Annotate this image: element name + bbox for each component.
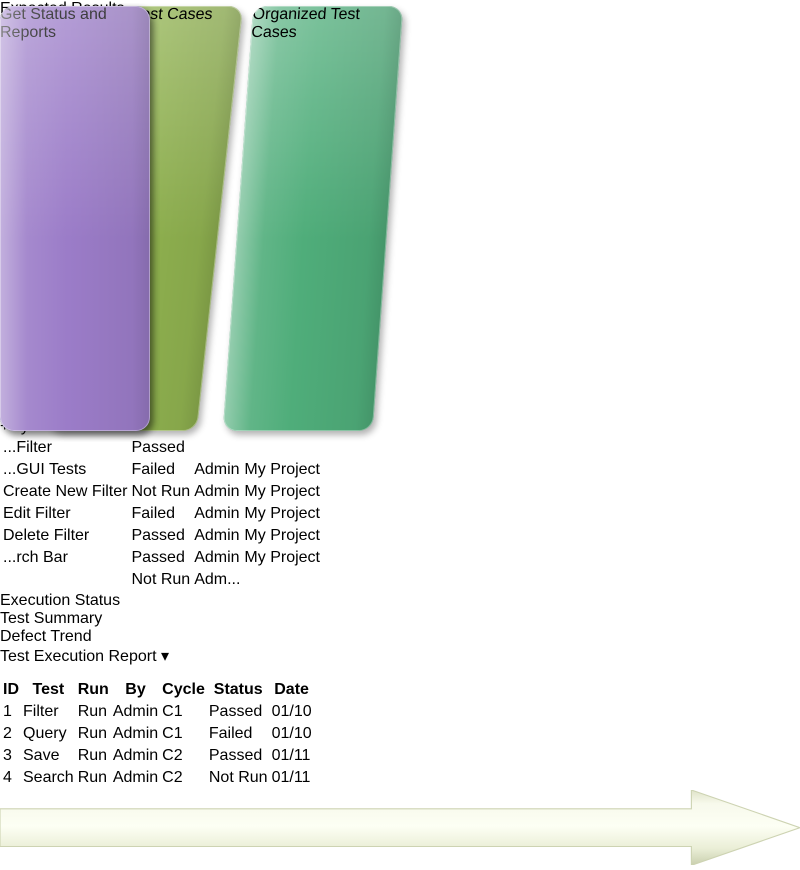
column-header[interactable]: Test: [22, 680, 75, 700]
project-cell[interactable]: My Project: [243, 504, 321, 524]
table-cell[interactable]: Query: [22, 724, 75, 744]
table-cell[interactable]: Run: [77, 768, 110, 788]
test-name-cell[interactable]: ...rch Bar: [2, 548, 128, 568]
table-row[interactable]: 2QueryRunAdminC1Failed01/10: [2, 724, 313, 744]
workflow-diagram: Write Test Cases Organized Test Cases Ex…: [0, 0, 800, 445]
table-row[interactable]: Not RunAdm...: [2, 570, 321, 590]
table-cell[interactable]: Admin: [112, 702, 159, 722]
column-header[interactable]: Status: [208, 680, 269, 700]
project-cell[interactable]: [243, 570, 321, 590]
table-row[interactable]: ...rch BarPassedAdminMy Project: [2, 548, 321, 568]
status-cell[interactable]: Not Run: [130, 482, 191, 502]
status-cell[interactable]: Passed: [130, 548, 191, 568]
test-name-cell[interactable]: ...GUI Tests: [2, 460, 128, 480]
execution-table[interactable]: ...FilterPassed...GUI TestsFailedAdminMy…: [0, 436, 323, 592]
project-cell[interactable]: My Project: [243, 460, 321, 480]
stage-label-report: Get Status and Reports: [0, 6, 150, 42]
process-flow-arrow: [0, 790, 800, 865]
table-cell[interactable]: 01/11: [271, 746, 313, 766]
stage-label-organize: Organized Test Cases: [251, 6, 404, 42]
table-cell[interactable]: 4: [2, 768, 20, 788]
column-header[interactable]: Run: [77, 680, 110, 700]
table-cell[interactable]: 01/10: [271, 724, 313, 744]
widget-bar-chart-2[interactable]: Defect Trend: [0, 628, 800, 646]
table-cell[interactable]: 3: [2, 746, 20, 766]
collapse-icon[interactable]: ▾: [161, 648, 169, 665]
table-row[interactable]: 3SaveRunAdminC2Passed01/11: [2, 746, 313, 766]
project-cell[interactable]: My Project: [243, 526, 321, 546]
table-cell[interactable]: Not Run: [208, 768, 269, 788]
widget-title: Test Summary: [0, 610, 800, 628]
report-dashboard: Execution Status Test Summary D: [0, 592, 800, 790]
column-header[interactable]: By: [112, 680, 159, 700]
panel-sheen: [0, 6, 150, 431]
test-name-cell[interactable]: Delete Filter: [2, 526, 128, 546]
table-cell[interactable]: Filter: [22, 702, 75, 722]
column-header[interactable]: ID: [2, 680, 20, 700]
owner-cell[interactable]: Admin: [193, 504, 241, 524]
test-name-cell[interactable]: Edit Filter: [2, 504, 128, 524]
table-row[interactable]: 1FilterRunAdminC1Passed01/10: [2, 702, 313, 722]
table-row[interactable]: Create New FilterNot RunAdminMy Project: [2, 482, 321, 502]
test-name-cell[interactable]: ...Filter: [2, 438, 128, 458]
table-cell[interactable]: Admin: [112, 768, 159, 788]
table-cell[interactable]: Run: [77, 702, 110, 722]
table-row[interactable]: Edit FilterFailedAdminMy Project: [2, 504, 321, 524]
table-cell[interactable]: C1: [161, 724, 206, 744]
table-header-row: IDTestRunByCycleStatusDate: [2, 680, 313, 700]
panel-rim: [0, 6, 150, 431]
table-cell[interactable]: C1: [161, 702, 206, 722]
status-cell[interactable]: Not Run: [130, 570, 191, 590]
stage-panel-report[interactable]: Get Status and Reports: [0, 6, 150, 431]
report-section-header: Test Execution Report ▾: [0, 646, 800, 666]
table-cell[interactable]: C2: [161, 768, 206, 788]
status-cell[interactable]: Passed: [130, 526, 191, 546]
table-cell[interactable]: Admin: [112, 746, 159, 766]
screenshot-bubble-report[interactable]: Execution Status Test Summary D: [0, 592, 800, 790]
table-cell[interactable]: 01/11: [271, 768, 313, 788]
project-cell[interactable]: My Project: [243, 482, 321, 502]
stage-panel-organize[interactable]: Organized Test Cases: [223, 6, 403, 431]
table-cell[interactable]: 2: [2, 724, 20, 744]
owner-cell[interactable]: [193, 438, 241, 458]
owner-cell[interactable]: Adm...: [193, 570, 241, 590]
test-name-cell[interactable]: Create New Filter: [2, 482, 128, 502]
table-row[interactable]: ...GUI TestsFailedAdminMy Project: [2, 460, 321, 480]
owner-cell[interactable]: Admin: [193, 548, 241, 568]
table-cell[interactable]: Passed: [208, 702, 269, 722]
widget-bar-chart-1[interactable]: Execution Status: [0, 592, 800, 610]
status-cell[interactable]: Passed: [130, 438, 191, 458]
table-cell[interactable]: Save: [22, 746, 75, 766]
table-cell[interactable]: Search: [22, 768, 75, 788]
widget-pie-chart[interactable]: Test Summary: [0, 610, 800, 628]
project-cell[interactable]: My Project: [243, 548, 321, 568]
table-row[interactable]: ...FilterPassed: [2, 438, 321, 458]
project-cell[interactable]: [243, 438, 321, 458]
table-cell[interactable]: Run: [77, 724, 110, 744]
owner-cell[interactable]: Admin: [193, 482, 241, 502]
table-cell[interactable]: 1: [2, 702, 20, 722]
table-cell[interactable]: C2: [161, 746, 206, 766]
section-title: Test Execution Report: [0, 648, 157, 665]
owner-cell[interactable]: Admin: [193, 460, 241, 480]
screenshot-bubble-execute[interactable]: ...FilterPassed...GUI TestsFailedAdminMy…: [0, 436, 800, 592]
table-cell[interactable]: Admin: [112, 724, 159, 744]
table-row[interactable]: 4SearchRunAdminC2Not Run01/11: [2, 768, 313, 788]
table-cell[interactable]: Failed: [208, 724, 269, 744]
report-filter-row: [0, 666, 800, 678]
widget-title: Defect Trend: [0, 628, 800, 646]
status-cell[interactable]: Failed: [130, 504, 191, 524]
table-cell[interactable]: 01/10: [271, 702, 313, 722]
owner-cell[interactable]: Admin: [193, 526, 241, 546]
widget-title: Execution Status: [0, 592, 800, 610]
table-cell[interactable]: Passed: [208, 746, 269, 766]
widget-row: Execution Status Test Summary D: [0, 592, 800, 646]
status-cell[interactable]: Failed: [130, 460, 191, 480]
table-row[interactable]: Delete FilterPassedAdminMy Project: [2, 526, 321, 546]
test-name-cell[interactable]: [2, 570, 128, 590]
report-table[interactable]: IDTestRunByCycleStatusDate 1FilterRunAdm…: [0, 678, 315, 790]
table-cell[interactable]: Run: [77, 746, 110, 766]
column-header[interactable]: Date: [271, 680, 313, 700]
column-header[interactable]: Cycle: [161, 680, 206, 700]
